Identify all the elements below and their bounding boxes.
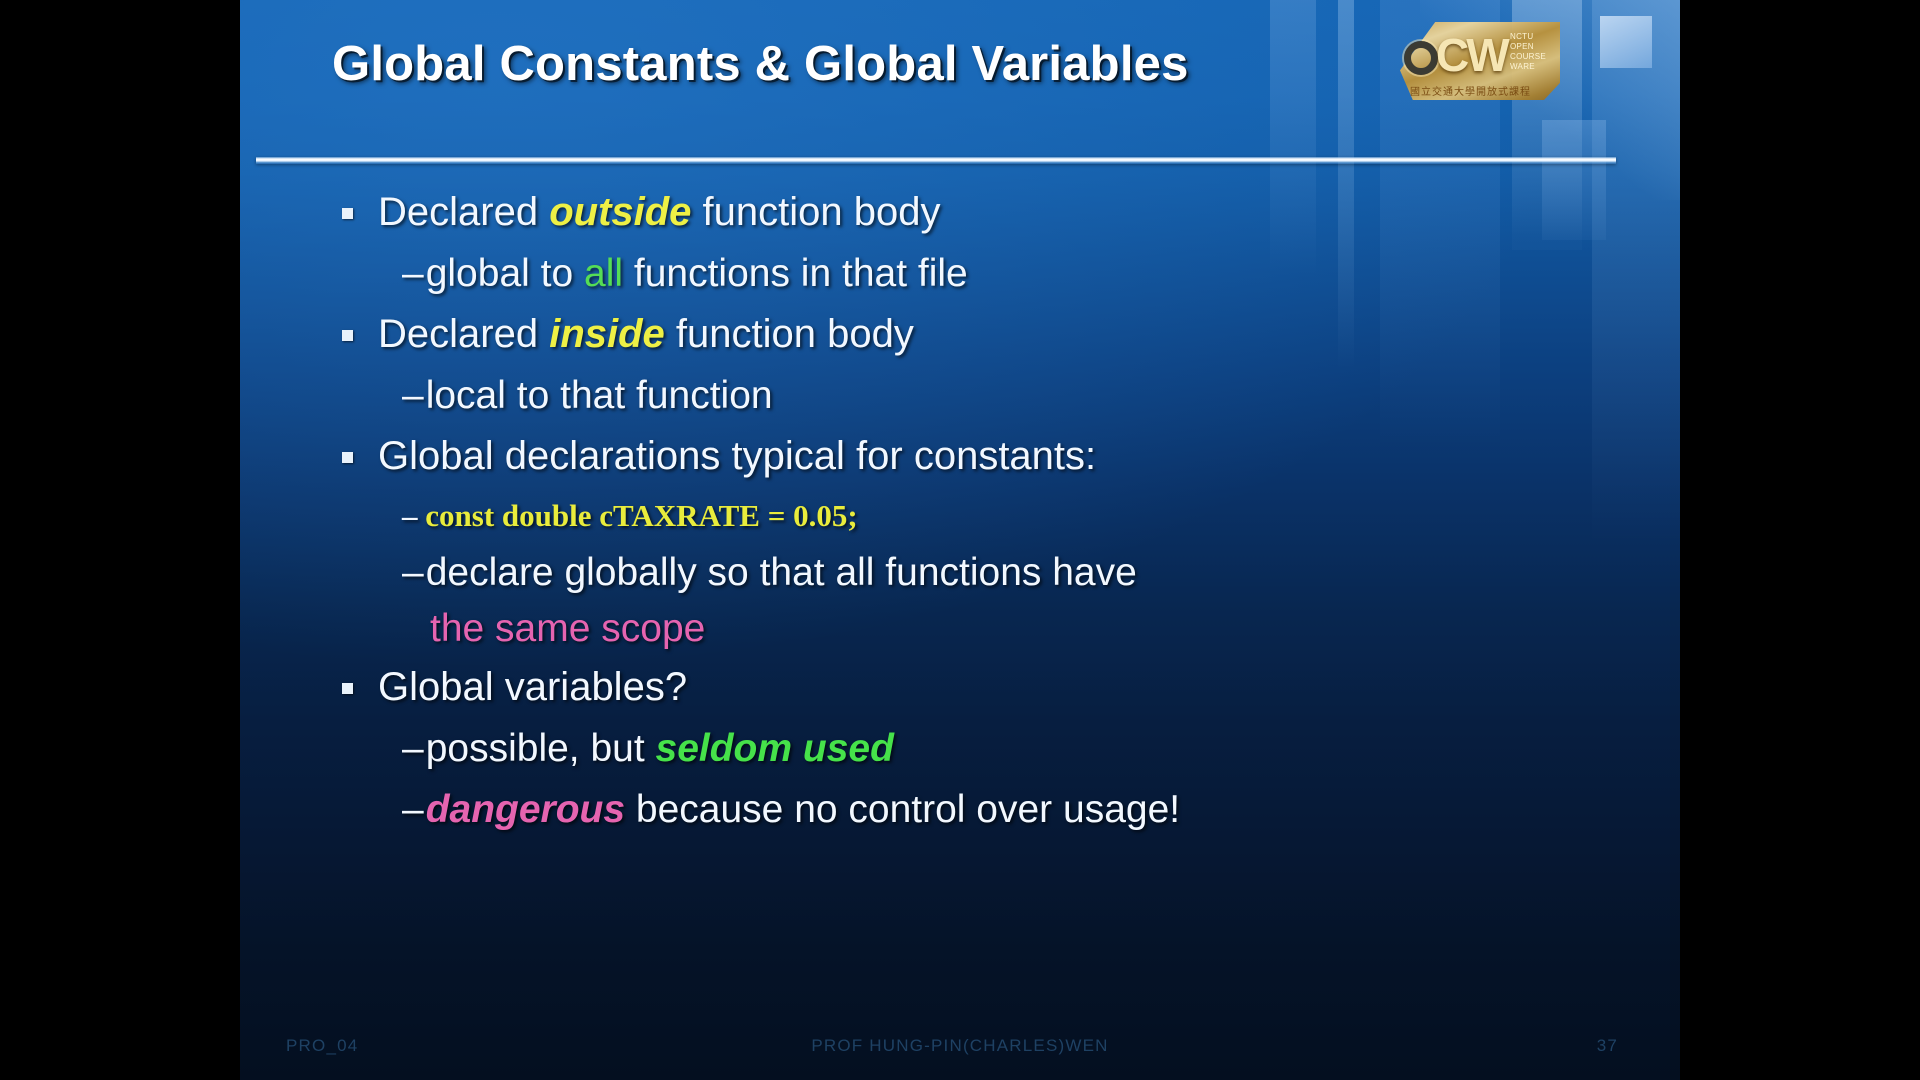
bullet-text: Global variables? <box>378 665 687 709</box>
footer-instructor: PROF HUNG-PIN(CHARLES)WEN <box>240 1036 1680 1056</box>
logo-org-text: NCTU OPEN COURSE WARE <box>1510 32 1554 72</box>
square-bullet-icon <box>342 452 353 463</box>
dash-bullet-icon: – <box>402 374 424 417</box>
bullet-text: declare globally so that all functions h… <box>426 551 1137 594</box>
bullet-code-line: – const double cTAXRATE = 0.05; <box>330 487 1630 545</box>
bullet-level2: –global to all functions in that file <box>330 243 1630 304</box>
bullet-text: global to <box>426 252 584 295</box>
bullet-text: because no control over usage! <box>625 788 1180 831</box>
slide-footer: PRO_04 PROF HUNG-PIN(CHARLES)WEN 37 <box>240 1036 1680 1062</box>
bullet-text: Declared <box>378 312 549 356</box>
square-bullet-icon <box>342 208 353 219</box>
title-divider-rule <box>256 157 1616 164</box>
emphasis-same-scope: the same scope <box>402 601 1340 657</box>
dash-bullet-icon: – <box>402 788 424 831</box>
logo-org-line: COURSE <box>1510 52 1554 62</box>
logo-org-line: WARE <box>1510 62 1554 72</box>
emphasis-all: all <box>584 252 623 295</box>
bullet-text: possible, but <box>426 727 656 770</box>
square-bullet-icon <box>342 683 353 694</box>
emphasis-dangerous: dangerous <box>426 788 625 831</box>
dash-bullet-icon: – <box>402 727 424 770</box>
bullet-text: Declared <box>378 190 549 234</box>
bullet-text: function body <box>665 312 914 356</box>
code-snippet: const double cTAXRATE = 0.05; <box>425 498 857 533</box>
bullet-level2: –local to that function <box>330 365 1630 426</box>
bullet-text: Global declarations typical for constant… <box>378 434 1096 478</box>
emphasis-seldom-used: seldom used <box>656 727 894 770</box>
bullet-level2: –dangerous because no control over usage… <box>330 779 1630 840</box>
decorative-wedge <box>1420 0 1680 200</box>
bullet-level1: Global declarations typical for constant… <box>330 426 1630 487</box>
emphasis-inside: inside <box>549 312 665 356</box>
bullet-level1: Declared inside function body <box>330 304 1630 365</box>
bullet-level1: Global variables? <box>330 657 1630 718</box>
logo-org-line: NCTU <box>1510 32 1554 42</box>
presentation-slide: Global Constants & Global Variables CW N… <box>240 0 1680 1080</box>
video-letterbox-stage: Global Constants & Global Variables CW N… <box>0 0 1920 1080</box>
decorative-square <box>1600 16 1652 68</box>
square-bullet-icon <box>342 330 353 341</box>
slide-body: Declared outside function body –global t… <box>330 182 1630 840</box>
bullet-text: function body <box>691 190 940 234</box>
bullet-level1: Declared outside function body <box>330 182 1630 243</box>
dash-bullet-icon: – <box>402 551 424 594</box>
footer-page-number: 37 <box>1597 1036 1618 1056</box>
dash-bullet-icon: – <box>402 498 418 533</box>
bullet-text: functions in that file <box>623 252 968 295</box>
bullet-text: local to that function <box>426 374 773 417</box>
dash-bullet-icon: – <box>402 252 424 295</box>
bullet-level2: –declare globally so that all functions … <box>330 545 1340 657</box>
slide-title: Global Constants & Global Variables <box>332 36 1512 92</box>
bullet-level2: –possible, but seldom used <box>330 718 1630 779</box>
emphasis-outside: outside <box>549 190 691 234</box>
logo-org-line: OPEN <box>1510 42 1554 52</box>
